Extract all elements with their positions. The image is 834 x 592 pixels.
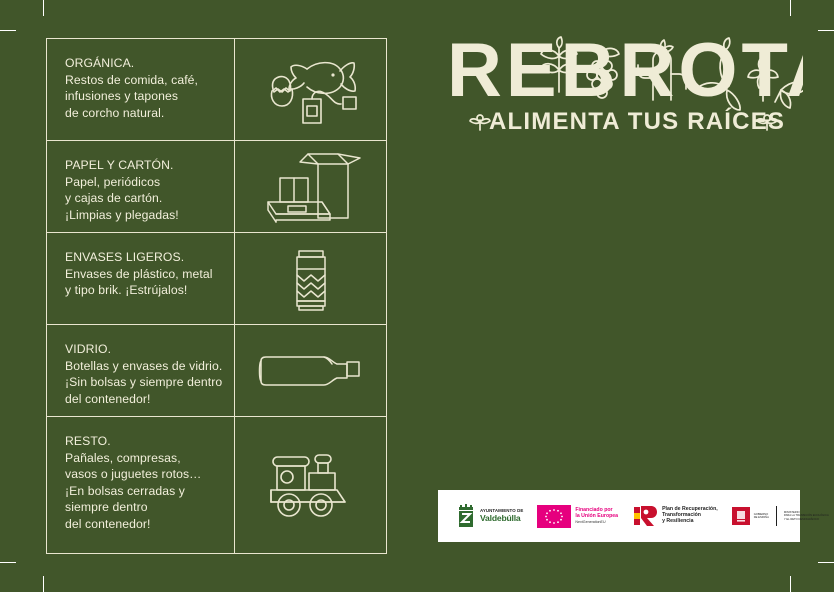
category-line: Restos de comida, café, xyxy=(65,72,224,89)
valdebulla-crest-icon xyxy=(456,503,476,529)
crop-mark-bottom-right-h xyxy=(818,562,834,563)
table-row: RESTO. Pañales, compresas, vasos o jugue… xyxy=(47,417,386,553)
row-text-envases: ENVASES LIGEROS. Envases de plástico, me… xyxy=(47,233,235,324)
crop-mark-top-right-h xyxy=(818,30,834,31)
crop-mark-bottom-left-v xyxy=(43,576,44,592)
food-waste-icon xyxy=(235,39,386,140)
crop-mark-top-left-v xyxy=(43,0,44,16)
table-row: ORGÁNICA. Restos de comida, café, infusi… xyxy=(47,39,386,141)
funding-logos-bar: AYUNTAMIENTO DE Valdebúlla Financiado po… xyxy=(438,490,800,542)
category-line: del contenedor! xyxy=(65,391,224,408)
crop-mark-top-right-v xyxy=(790,0,791,16)
funder-line-2: la Unión Europea xyxy=(575,514,618,520)
row-text-papel: PAPEL Y CARTÓN. Papel, periódicos y caja… xyxy=(47,141,235,232)
funder-line-3: NextGenerationEU xyxy=(575,520,618,524)
category-line: y tipo brik. ¡Estrújalos! xyxy=(65,282,224,299)
category-line: y cajas de cartón. xyxy=(65,190,224,207)
funder-plan-recuperacion: Plan de Recuperación, Transformación y R… xyxy=(632,503,718,529)
divider xyxy=(776,506,777,526)
category-line: Botellas y envases de vidrio. xyxy=(65,358,224,375)
category-line: Pañales, compresas, xyxy=(65,450,224,467)
cardboard-box-icon xyxy=(235,141,386,232)
row-text-vidrio: VIDRIO. Botellas y envases de vidrio. ¡S… xyxy=(47,325,235,416)
category-title: VIDRIO. xyxy=(65,341,224,358)
toy-train-icon xyxy=(235,417,386,553)
table-row: PAPEL Y CARTÓN. Papel, periódicos y caja… xyxy=(47,141,386,233)
table-row: VIDRIO. Botellas y envases de vidrio. ¡S… xyxy=(47,325,386,417)
funder-line-2: DE ESPAÑA xyxy=(754,516,769,519)
category-line: Papel, periódicos xyxy=(65,174,224,191)
crop-mark-bottom-left-h xyxy=(0,562,16,563)
category-line: ¡En bolsas cerradas y xyxy=(65,483,224,500)
category-line: ¡Sin bolsas y siempre dentro xyxy=(65,374,224,391)
sprig-icon xyxy=(470,115,490,130)
category-line: ¡Limpias y plegadas! xyxy=(65,207,224,224)
category-line: vasos o juguetes rotos… xyxy=(65,466,224,483)
category-line: infusiones y tapones xyxy=(65,88,224,105)
gobierno-de-espana-icon xyxy=(732,507,750,525)
crushed-can-icon xyxy=(235,233,386,324)
funder-line-2: Valdebúlla xyxy=(480,514,523,524)
funder-ayuntamiento: AYUNTAMIENTO DE Valdebúlla xyxy=(456,503,523,529)
row-text-resto: RESTO. Pañales, compresas, vasos o jugue… xyxy=(47,417,235,553)
glass-bottle-icon xyxy=(235,325,386,416)
funder-line-5: Y EL RETO DEMOGRÁFICO xyxy=(784,518,829,521)
table-row: ENVASES LIGEROS. Envases de plástico, me… xyxy=(47,233,386,325)
tagline-text: ALIMENTA TUS RAÍCES xyxy=(489,107,785,135)
funder-union-europea: Financiado por la Unión Europea NextGene… xyxy=(537,505,618,528)
category-line: siempre dentro xyxy=(65,499,224,516)
category-title: RESTO. xyxy=(65,433,224,450)
waste-categories-table: ORGÁNICA. Restos de comida, café, infusi… xyxy=(46,38,387,554)
poster-canvas: ORGÁNICA. Restos de comida, café, infusi… xyxy=(0,0,834,592)
crop-mark-top-left-h xyxy=(0,30,16,31)
category-line: Envases de plástico, metal xyxy=(65,266,224,283)
eu-flag-icon xyxy=(537,505,571,528)
prtr-icon xyxy=(632,503,658,529)
category-title: ENVASES LIGEROS. xyxy=(65,249,224,266)
category-line: de corcho natural. xyxy=(65,105,224,122)
row-text-organica: ORGÁNICA. Restos de comida, café, infusi… xyxy=(47,39,235,140)
category-title: PAPEL Y CARTÓN. xyxy=(65,157,224,174)
funder-gobierno-espana: GOBIERNO DE ESPAÑA MINISTERIO PARA LA TR… xyxy=(732,506,829,526)
category-title: ORGÁNICA. xyxy=(65,55,224,72)
funder-line-3: y Resiliencia xyxy=(662,519,718,525)
rebrota-logo: REBROTA ALIMENTA TUS RAÍCES xyxy=(447,34,803,138)
crop-mark-bottom-right-v xyxy=(790,576,791,592)
category-line: del contenedor! xyxy=(65,516,224,533)
